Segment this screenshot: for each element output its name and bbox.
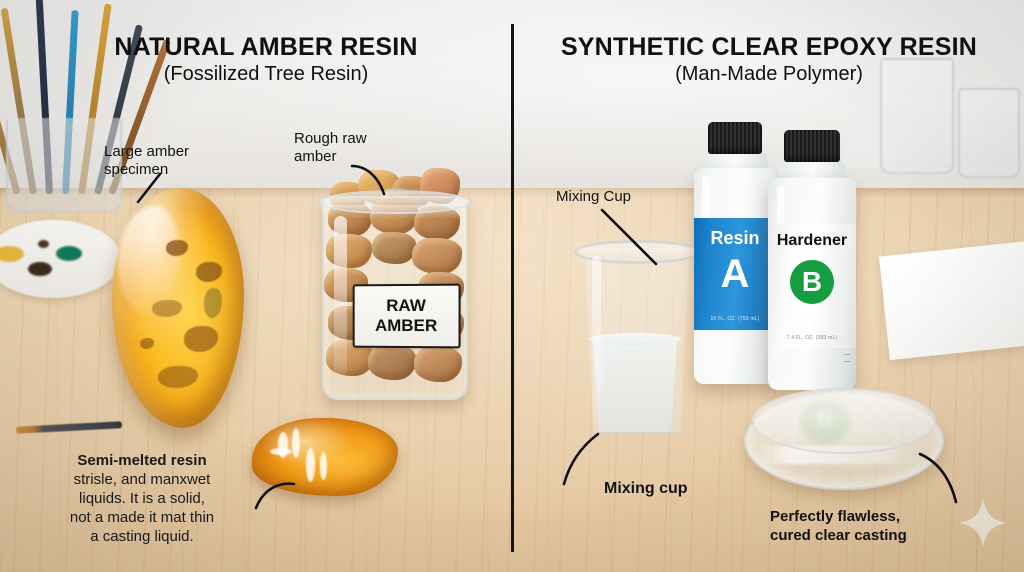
leader-rough-raw-amber — [350, 160, 398, 200]
resin-label-name: Resin — [694, 228, 776, 249]
annotation-rough-raw-amber: Rough raw amber — [294, 130, 367, 166]
jar-label-line2: AMBER — [375, 316, 437, 336]
resin-label-letter: A — [694, 254, 776, 294]
leader-melted-blob — [252, 478, 300, 512]
right-panel-title: SYNTHETIC CLEAR EPOXY RESIN — [534, 34, 1004, 61]
left-panel-heading: NATURAL AMBER RESIN (Fossilized Tree Res… — [56, 34, 476, 85]
hardener-label-fine-print: 7.4 FL. OZ. (383 mL) — [768, 335, 856, 341]
paper-sheet — [879, 240, 1024, 360]
leader-mixing-cup-top — [600, 208, 664, 270]
annotation-large-specimen-line2: specimen — [104, 161, 189, 179]
note-semi-melted-resin: Semi-melted resin strisle, and manxwet l… — [42, 452, 242, 546]
annotation-mixing-cup-top: Mixing Cup — [556, 188, 631, 206]
note-left-line4: not a made it mat thin — [70, 509, 214, 526]
annotation-large-specimen: Large amber specimen — [104, 143, 189, 179]
resin-bottle-label: Resin A 16 FL. OZ. (750 mL) — [694, 218, 776, 330]
beaker-small — [958, 88, 1020, 178]
note-left-heading: Semi-melted resin — [42, 452, 242, 471]
infographic-canvas: NATURAL AMBER RESIN (Fossilized Tree Res… — [0, 0, 1024, 572]
mixing-cup-gloss — [592, 256, 601, 424]
note-left-line3-a: liquids. It is a — [79, 490, 170, 507]
hardener-bottle-cap — [784, 130, 840, 162]
annotation-rough-raw-line2: amber — [294, 148, 367, 166]
hardener-badge: B — [790, 260, 834, 304]
note-left-line2: strisle, and manxwet — [74, 471, 211, 488]
hardener-bottle-label: Hardener B 7.4 FL. OZ. (383 mL) — [768, 224, 856, 348]
annotation-mixing-cup-bottom: Mixing cup — [604, 479, 688, 498]
jar-label: RAW AMBER — [353, 284, 461, 349]
annotation-large-specimen-line1: Large amber — [104, 143, 189, 161]
note-left-line5: a casting liquid. — [90, 528, 193, 545]
right-panel-heading: SYNTHETIC CLEAR EPOXY RESIN (Man-Made Po… — [534, 34, 1004, 85]
hardener-label-name: Hardener — [768, 232, 856, 250]
leader-mixing-cup-bottom — [560, 432, 608, 488]
cured-epoxy-disc-top — [752, 388, 936, 454]
left-panel-title: NATURAL AMBER RESIN — [56, 34, 476, 61]
note-right-line1: Perfectly flawless, — [770, 508, 960, 527]
annotation-rough-raw-line1: Rough raw — [294, 130, 367, 148]
jar-gloss — [334, 216, 347, 376]
jar-neck — [322, 205, 464, 219]
jar-label-line1: RAW — [386, 296, 426, 316]
note-left-line3-emphasis: solid, — [170, 490, 205, 507]
resin-label-fine-print: 16 FL. OZ. (750 mL) — [694, 316, 776, 322]
right-panel-subtitle: (Man-Made Polymer) — [534, 64, 1004, 85]
panel-divider — [511, 24, 514, 552]
mixing-cup-meniscus — [588, 333, 682, 345]
sparkle-icon — [957, 497, 1009, 549]
mixing-cup-liquid — [590, 338, 680, 432]
hardener-label-letter: B — [802, 268, 822, 296]
resin-bottle-cap — [708, 122, 762, 154]
note-right-line2: cured clear casting — [770, 527, 960, 546]
left-panel-subtitle: (Fossilized Tree Resin) — [56, 64, 476, 85]
note-cured-clear-casting: Perfectly flawless, cured clear casting — [770, 508, 960, 546]
